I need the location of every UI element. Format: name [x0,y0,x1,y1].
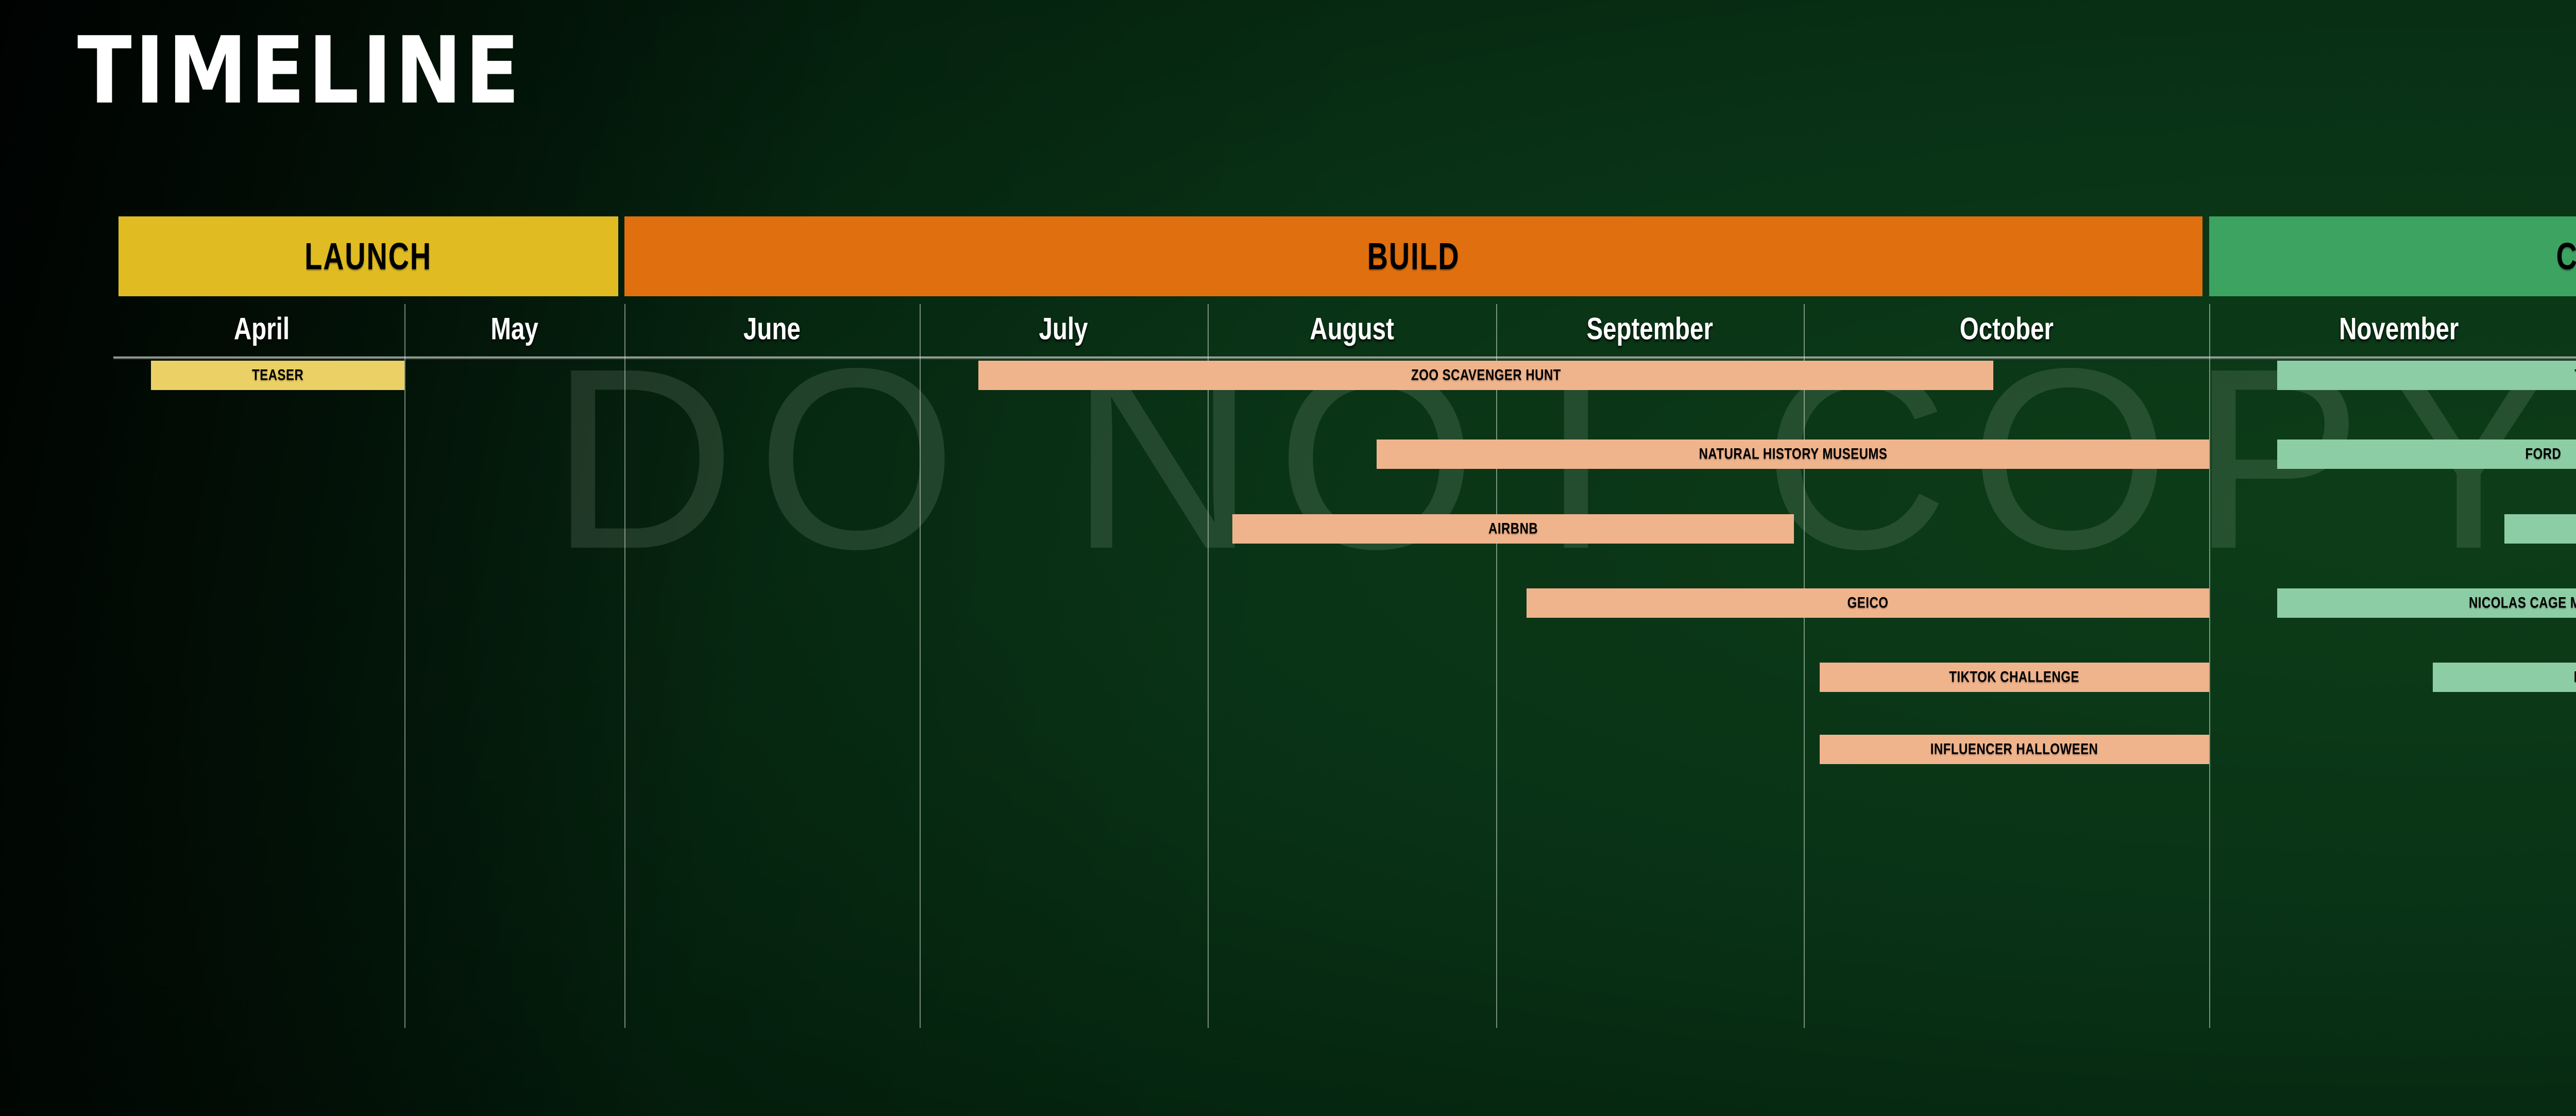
task-label: TIKTOK CHALLENGE [1944,669,2084,685]
task-bar-influencer-halloween[interactable]: INFLUENCER HALLOWEEN [1820,735,2209,764]
task-label: TEASER [247,367,308,383]
task-bar-natural-history-museums[interactable]: NATURAL HISTORY MUSEUMS [1377,439,2209,469]
task-bar-ford[interactable]: FORD [2277,439,2576,469]
task-bar-nicolas-cage-memes[interactable]: NICOLAS CAGE MEMES [2277,588,2576,618]
task-bar-airbnb[interactable]: AIRBNB [1232,514,1794,544]
task-label: TREE HOUSE POP-UP [2569,367,2576,383]
task-bar-teser[interactable]: TEASER [151,361,404,390]
task-bar-geico[interactable]: GEICO [1527,588,2209,618]
task-label: FORD [2520,446,2566,462]
task-bar-zoo-scavenger-hunt[interactable]: ZOO SCAVENGER HUNT [978,361,1993,390]
task-bar-ubereats[interactable]: UBEREATS [2504,514,2576,544]
task-bar-idea-factory[interactable]: IDEA FACTORY [2433,663,2576,692]
task-label: INFLUENCER HALLOWEEN [1926,741,2104,757]
timeline-chart: LAUNCH BUILD CLOSE April May June July A… [118,216,2576,1030]
task-label: NICOLAS CAGE MEMES [2464,595,2576,611]
task-label: AIRBNB [1483,521,1543,536]
task-bar-tiktok-challenge[interactable]: TIKTOK CHALLENGE [1820,663,2209,692]
task-bars: TEASER ZOO SCAVENGER HUNT TREE HOUSE POP… [118,216,2576,1030]
page-title: TIMELINE [77,25,523,117]
task-bar-tree-house-pop-up[interactable]: TREE HOUSE POP-UP [2277,361,2576,390]
task-label: IDEA FACTORY [2569,669,2576,685]
task-label: GEICO [1842,595,1893,611]
task-label: NATURAL HISTORY MUSEUMS [1694,446,1892,462]
task-label: ZOO SCAVENGER HUNT [1406,367,1566,383]
